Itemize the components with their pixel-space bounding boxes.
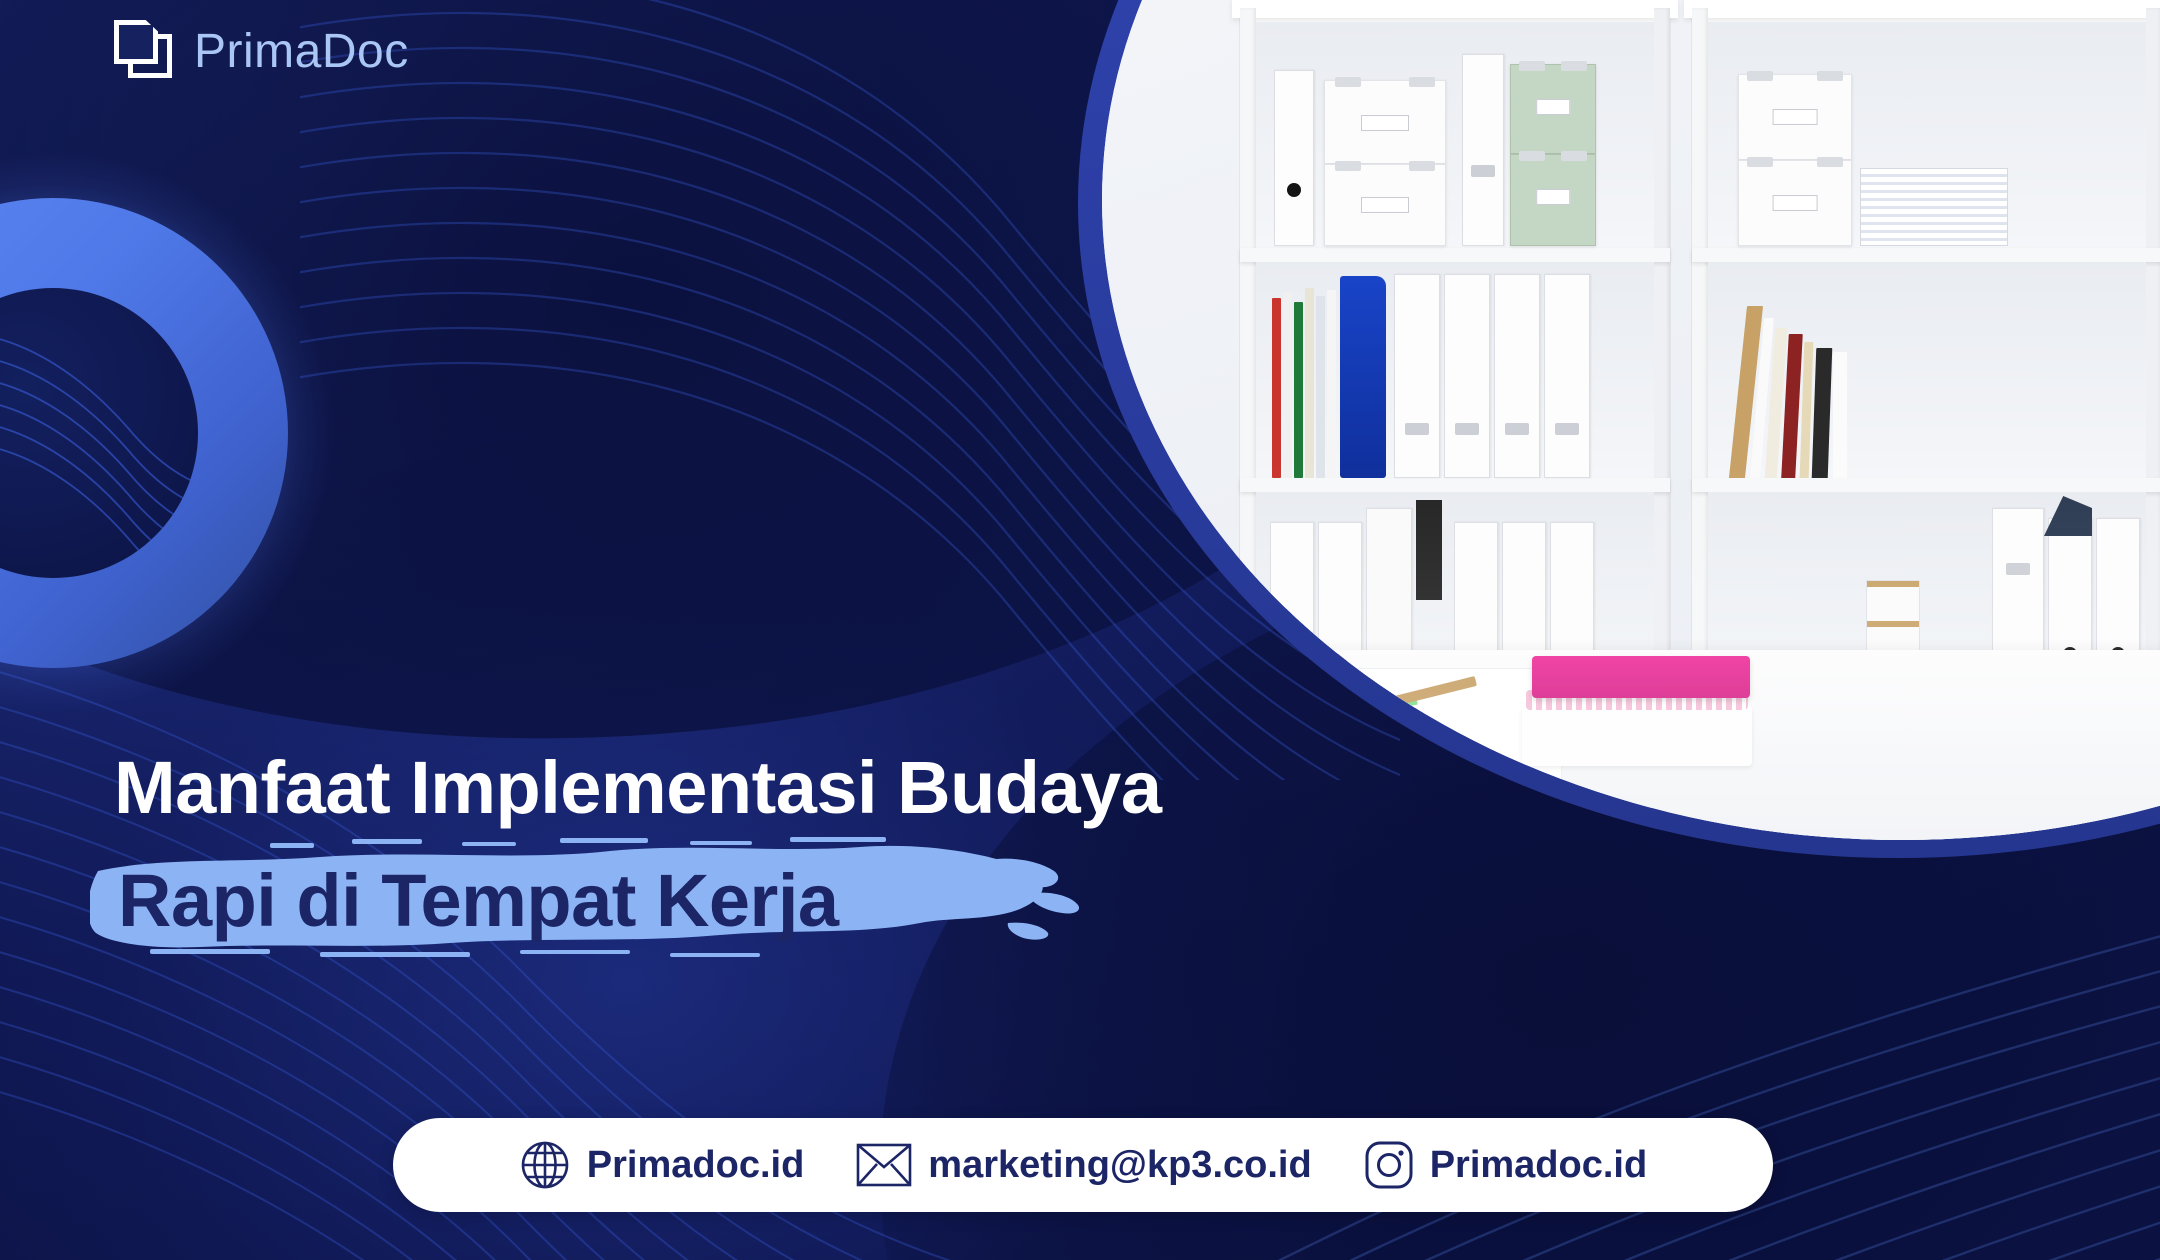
contact-email-label: marketing@kp3.co.id xyxy=(928,1144,1311,1187)
contact-website-label: Primadoc.id xyxy=(587,1144,805,1187)
brand-logo[interactable]: PrimaDoc xyxy=(114,20,409,82)
office-shelving-photo xyxy=(1102,0,2160,840)
globe-icon xyxy=(519,1139,571,1191)
headline-block: Manfaat Implementasi Budaya xyxy=(114,750,1514,965)
contact-instagram-label: Primadoc.id xyxy=(1430,1144,1648,1187)
ring-accent-hole xyxy=(0,288,198,578)
contact-item-website[interactable]: Primadoc.id xyxy=(493,1139,831,1191)
contact-item-email[interactable]: marketing@kp3.co.id xyxy=(830,1143,1337,1187)
photo-circular-mask xyxy=(1102,0,2160,840)
headline-line-2: Rapi di Tempat Kerja xyxy=(114,847,1514,938)
headline-line-1: Manfaat Implementasi Budaya xyxy=(114,750,1514,825)
promotional-banner: PrimaDoc Manfaat Implementasi Budaya xyxy=(0,0,2160,1260)
contact-bar: Primadoc.id marketing@kp3.co.id xyxy=(393,1118,1773,1212)
document-stack-icon xyxy=(114,20,174,82)
envelope-icon xyxy=(856,1143,912,1187)
contact-item-instagram[interactable]: Primadoc.id xyxy=(1338,1140,1674,1190)
instagram-icon xyxy=(1364,1140,1414,1190)
brand-wordmark: PrimaDoc xyxy=(194,24,409,79)
